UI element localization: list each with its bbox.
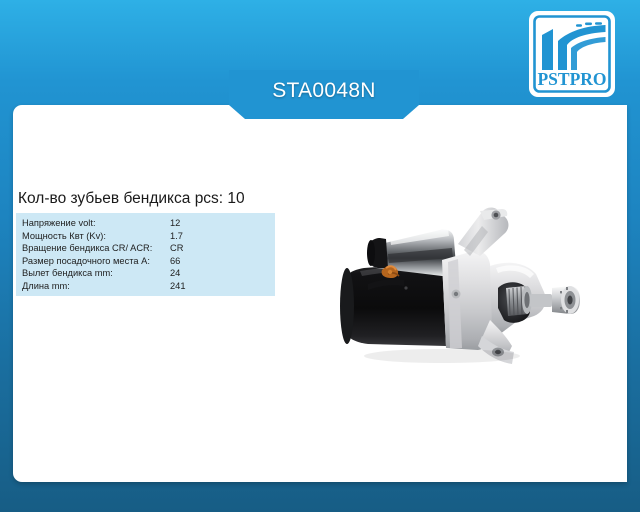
spec-row-mount-size: Размер посадочного места A:66 (22, 255, 275, 268)
logo-wordmark: PSTPRO (537, 69, 606, 89)
product-title-tab: STA0048N (229, 70, 419, 119)
spec-value-voltage: 12 (170, 217, 180, 230)
spec-row-power: Мощность Квт (Kv):1.7 (22, 230, 275, 243)
teeth-count-heading: Кол-во зубьев бендикса pcs: 10 (18, 190, 245, 208)
spec-row-length: Длина mm:241 (22, 280, 275, 293)
spec-label-mount-size: Размер посадочного места A: (22, 255, 170, 268)
spec-value-mount-size: 66 (170, 255, 180, 268)
spec-row-bendix-offset: Вылет бендикса mm:24 (22, 267, 275, 280)
pinion-gear (506, 286, 532, 316)
page-background: PSTPRO STA0048N Кол-во зубьев бендикса p… (0, 0, 640, 512)
spec-row-voltage: Напряжение volt:12 (22, 217, 275, 230)
spec-label-power: Мощность Квт (Kv): (22, 230, 170, 243)
page-title: STA0048N (229, 70, 419, 112)
spec-value-power: 1.7 (170, 230, 183, 243)
starter-motor-photo[interactable] (330, 196, 588, 374)
spec-label-length: Длина mm: (22, 280, 170, 293)
spec-label-rotation: Вращение бендикса CR/ ACR: (22, 242, 170, 255)
spec-label-voltage: Напряжение volt: (22, 217, 170, 230)
spec-row-rotation: Вращение бендикса CR/ ACR:CR (22, 242, 275, 255)
specifications-table: Напряжение volt:12 Мощность Квт (Kv):1.7… (16, 213, 275, 296)
spec-value-bendix-offset: 24 (170, 267, 180, 280)
spec-value-rotation: CR (170, 242, 183, 255)
pstpro-logo[interactable]: PSTPRO (529, 11, 615, 97)
mounting-bracket (458, 208, 508, 256)
spec-label-bendix-offset: Вылет бендикса mm: (22, 267, 170, 280)
spec-value-length: 241 (170, 280, 186, 293)
